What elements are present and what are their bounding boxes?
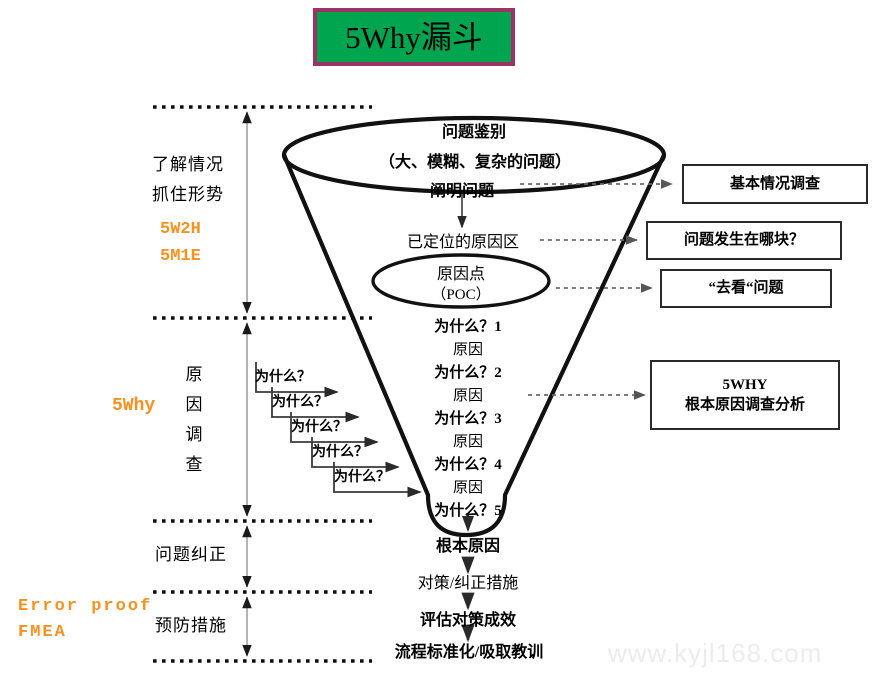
right-box-where-occurred[interactable]: 问题发生在哪块？: [646, 221, 842, 260]
bottom-flow-root-cause: 根本原因: [388, 532, 548, 556]
why-cascade-label-5: 为什么？: [334, 466, 390, 486]
funnel-poc-line1: 原因点: [391, 260, 531, 284]
stage2-vchar-1: 原: [183, 360, 205, 390]
stage4-tag-errorproof: Error proof: [18, 597, 152, 616]
right-box-5why-analysis[interactable]: 5WHY 根本原因调查分析: [650, 360, 840, 430]
right-box-go-see[interactable]: “去看“问题: [660, 269, 832, 308]
right-box-4-line1: 5WHY: [723, 375, 768, 395]
funnel-top-subtitle: （大、模糊、复杂的问题）: [344, 148, 606, 172]
stage2-vertical-label: 原 因 调 查: [183, 360, 205, 480]
stage1-label-line1: 了解情况: [152, 150, 224, 175]
right-box-2-label: 问题发生在哪块？: [684, 230, 804, 250]
bottom-flow-standardize: 流程标准化/吸取教训: [358, 638, 580, 662]
right-box-1-label: 基本情况调查: [730, 174, 820, 194]
funnel-top-title: 问题鉴别: [374, 118, 574, 142]
funnel-why-5: 为什么？5: [408, 499, 528, 520]
slide-title-box: 5Why漏斗: [313, 8, 515, 66]
right-box-4-line2: 根本原因调查分析: [685, 395, 805, 415]
funnel-cause-2: 原因: [408, 384, 528, 405]
stage3-label: 问题纠正: [155, 540, 227, 565]
stage2-vchar-4: 查: [183, 450, 205, 480]
stage1-tag-5m1e: 5M1E: [160, 247, 201, 266]
funnel-cause-4: 原因: [408, 476, 528, 497]
bottom-flow-countermeasure: 对策/纠正措施: [383, 569, 553, 593]
slide-canvas: 5Why漏斗 了解情况 抓住形势 5W2H 5M1E 5Why 原 因 调 查 …: [0, 0, 884, 678]
funnel-why-4: 为什么？4: [408, 453, 528, 474]
why-cascade-label-2: 为什么？: [272, 391, 328, 411]
why-cascade-label-4: 为什么？: [312, 441, 368, 461]
funnel-why-3: 为什么？3: [408, 407, 528, 428]
bottom-flow-evaluate: 评估对策成效: [383, 606, 553, 630]
why-cascade-label-3: 为什么？: [291, 416, 347, 436]
stage1-label-line2: 抓住形势: [152, 180, 224, 205]
funnel-cause-1: 原因: [408, 338, 528, 359]
funnel-clarify-label: 阐明问题: [372, 177, 552, 201]
funnel-why-2: 为什么？2: [408, 361, 528, 382]
right-box-3-label: “去看“问题: [708, 278, 783, 298]
stage1-tag-5w2h: 5W2H: [160, 220, 201, 239]
funnel-why-1: 为什么？1: [408, 315, 528, 336]
stage2-vchar-3: 调: [183, 420, 205, 450]
site-watermark: www.kyjl168.com: [608, 638, 822, 669]
stage2-vchar-2: 因: [183, 390, 205, 420]
funnel-poc-line2: （POC）: [391, 283, 531, 304]
stage2-label-5why: 5Why: [112, 396, 155, 416]
slide-title-text: 5Why漏斗: [345, 22, 483, 53]
stage4-tag-fmea: FMEA: [18, 623, 67, 642]
funnel-located-area-label: 已定位的原因区: [368, 228, 558, 252]
why-cascade-label-1: 为什么？: [255, 366, 311, 386]
stage4-label: 预防措施: [155, 611, 227, 636]
right-box-basic-survey[interactable]: 基本情况调查: [682, 164, 868, 204]
funnel-cause-3: 原因: [408, 430, 528, 451]
